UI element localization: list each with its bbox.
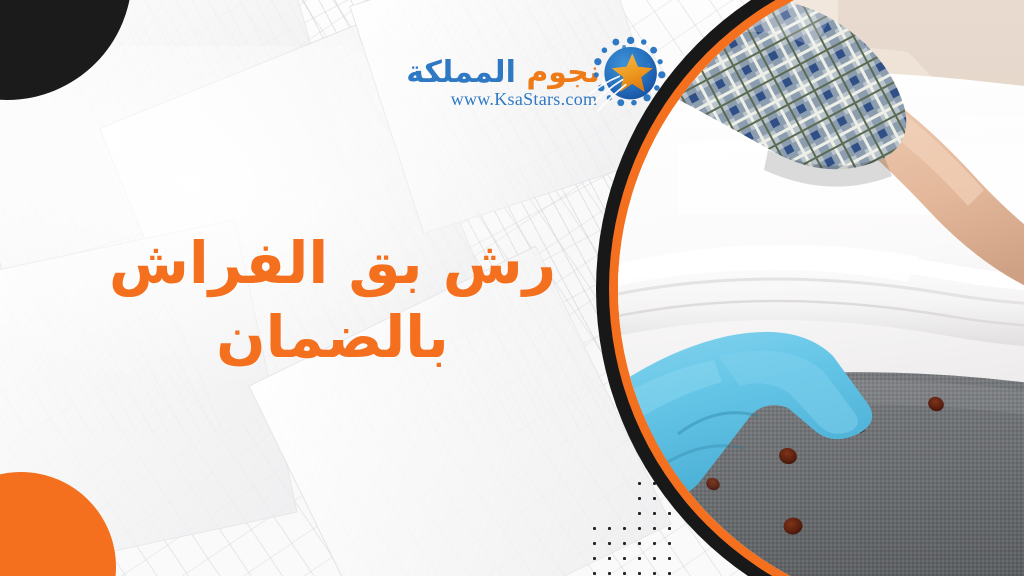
logo-website-url[interactable]: www.KsaStars.com [448, 89, 600, 110]
site-logo[interactable]: نجوم المملكة www.KsaStars.com [448, 22, 668, 124]
title-line-1: رش بق الفراش [60, 226, 605, 300]
logo-word-almamlaka: المملكة [406, 55, 516, 90]
page-title: رش بق الفراش بالضمان [60, 226, 605, 374]
title-line-2: بالضمان [60, 300, 605, 374]
logo-arabic-name: نجوم المملكة [448, 36, 600, 88]
photo-image-bed-bug-inspection [618, 0, 1024, 576]
logo-text-block: نجوم المملكة www.KsaStars.com [448, 36, 600, 110]
star-circle-emblem-icon [588, 28, 670, 120]
banner-root: نجوم المملكة www.KsaStars.com [0, 0, 1024, 576]
